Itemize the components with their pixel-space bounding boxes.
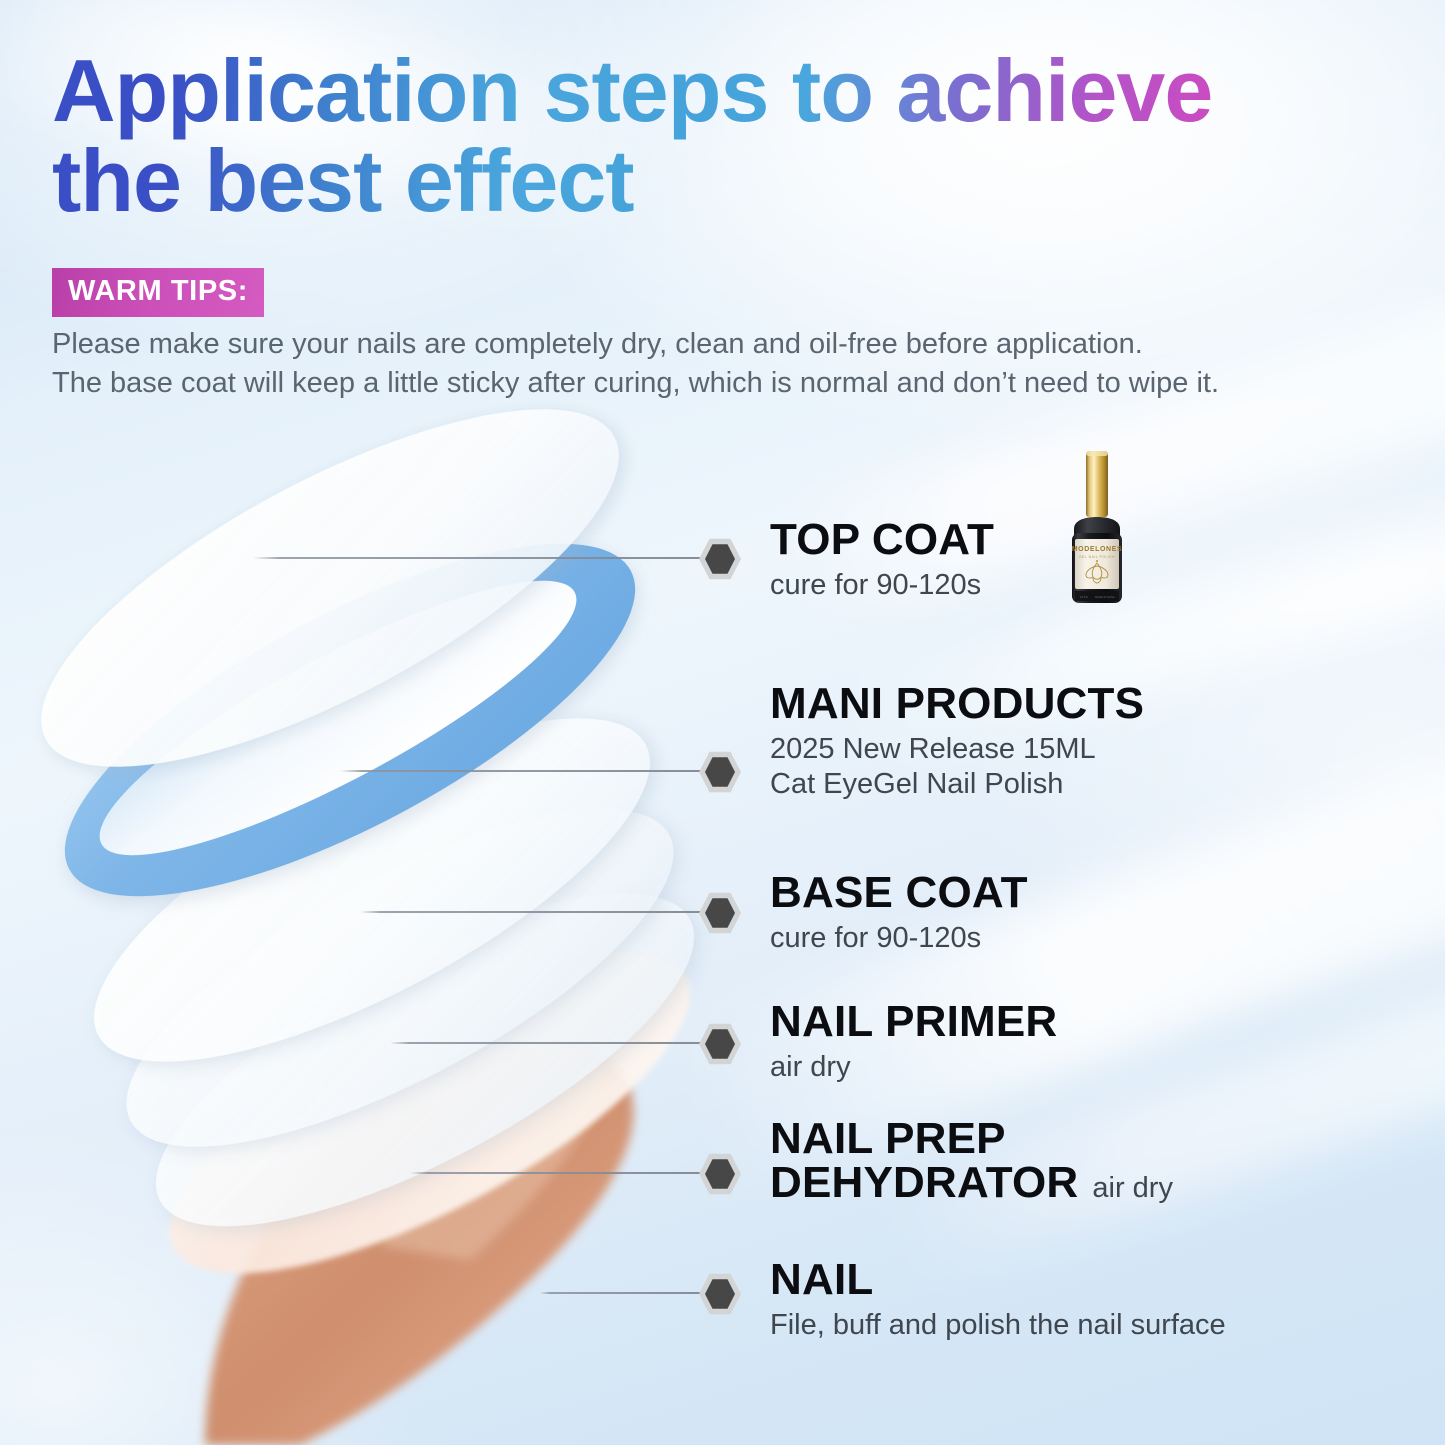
callout-nail: NAIL File, buff and polish the nail surf… — [770, 1257, 1226, 1343]
page-title-line-2: the best effect — [52, 136, 1412, 226]
callout-title-base-coat: BASE COAT — [770, 870, 1028, 916]
callout-title-nail-primer: NAIL PRIMER — [770, 999, 1057, 1045]
callout-title-nail-prep-line-1: NAIL PREP — [770, 1117, 1173, 1161]
callout-subtitle-top-coat: cure for 90-120s — [770, 568, 994, 603]
callout-top-coat: TOP COAT cure for 90-120s — [770, 517, 994, 603]
callout-subtitle-nail-primer: air dry — [770, 1050, 1057, 1085]
callout-title-dehydrator-row: DEHYDRATORair dry — [770, 1161, 1173, 1205]
bottle-shoulder — [1074, 517, 1120, 535]
callout-subtitle-base-coat: cure for 90-120s — [770, 921, 1028, 956]
warm-tips-line-1: Please make sure your nails are complete… — [52, 325, 1422, 364]
callout-nail-prep-dehydrator: NAIL PREP DEHYDRATORair dry — [770, 1117, 1173, 1205]
bottle-fineprint: MADE IN CHINA — [1095, 595, 1115, 599]
bottle-tagline-text: GEL NAIL POLISH — [1079, 555, 1115, 559]
callout-subtitle-nail: File, buff and polish the nail surface — [770, 1308, 1226, 1343]
warm-tips-text: Please make sure your nails are complete… — [52, 325, 1422, 404]
hexagon-bullet-nail-primer — [699, 1022, 741, 1066]
callout-title-top-coat: TOP COAT — [770, 517, 994, 563]
callout-subtitle-nail-prep-dehydrator: air dry — [1092, 1172, 1173, 1204]
hexagon-bullet-nail — [699, 1272, 741, 1316]
callout-title-nail: NAIL — [770, 1257, 1226, 1303]
bottle-cap — [1086, 451, 1108, 517]
callout-base-coat: BASE COAT cure for 90-120s — [770, 870, 1028, 956]
leader-line-nail-primer — [390, 1042, 705, 1044]
leader-line-mani-products — [340, 770, 705, 772]
hexagon-bullet-top-coat — [699, 537, 741, 581]
hexagon-bullet-base-coat — [699, 891, 741, 935]
callout-subtitle-mani-products-line-2: Cat EyeGel Nail Polish — [770, 767, 1144, 802]
callout-nail-primer: NAIL PRIMER air dry — [770, 999, 1057, 1085]
hexagon-bullet-nail-prep-dehydrator — [699, 1152, 741, 1196]
bottle-brand-text: MODELONES — [1072, 546, 1123, 553]
leader-line-base-coat — [360, 911, 705, 913]
bottle-fineprint: 15 ML — [1080, 595, 1089, 599]
page-title: Application steps to achieve the best ef… — [52, 46, 1412, 226]
page-title-line-1: Application steps to achieve — [52, 41, 1212, 140]
leader-line-top-coat — [253, 557, 705, 559]
warm-tips-line-2: The base coat will keep a little sticky … — [52, 364, 1422, 403]
warm-tips-badge: WARM TIPS: — [52, 268, 264, 317]
callout-title-nail-prep-line-2: DEHYDRATOR — [770, 1158, 1078, 1207]
callout-subtitle-mani-products-line-1: 2025 New Release 15ML — [770, 732, 1144, 767]
callout-mani-products: MANI PRODUCTS 2025 New Release 15ML Cat … — [770, 681, 1144, 803]
leader-line-nail — [540, 1292, 705, 1294]
leader-line-nail-prep-dehydrator — [410, 1172, 705, 1174]
callout-title-mani-products: MANI PRODUCTS — [770, 681, 1144, 727]
hexagon-bullet-mani-products — [699, 750, 741, 794]
product-bottle-modelones: MODELONES GEL NAIL POLISH 15 ML MADE IN … — [1063, 449, 1131, 609]
